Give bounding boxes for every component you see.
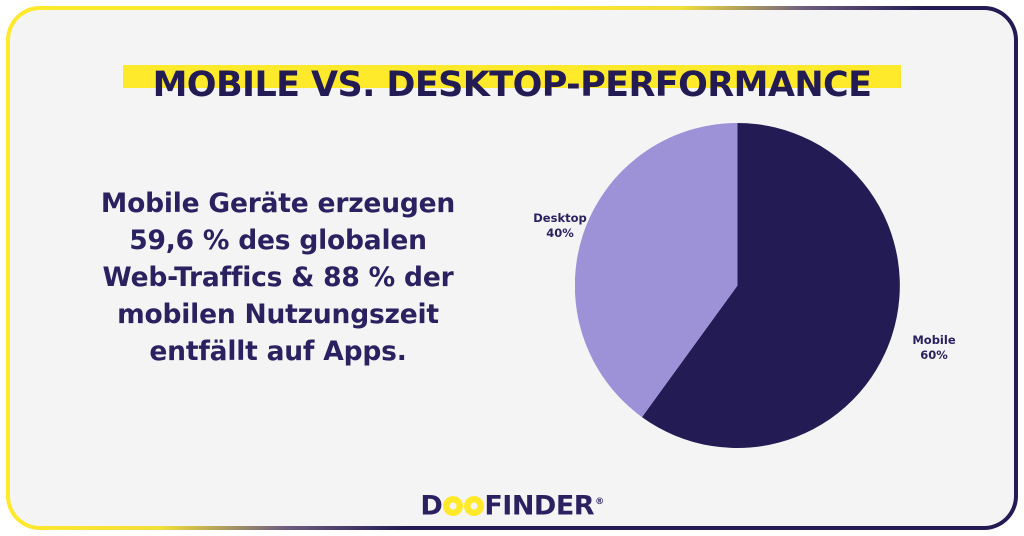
registered-trademark-mark: ® — [595, 497, 604, 507]
statement-line-2: 59,6 % des globalen — [58, 222, 498, 259]
pie-chart-svg — [575, 123, 900, 448]
brand-logo-wordmark: DFINDER® — [420, 488, 603, 521]
pie-label-mobile: Mobile 60% — [903, 333, 965, 363]
pie-label-mobile-name: Mobile — [903, 333, 965, 348]
page-title: MOBILE VS. DESKTOP-PERFORMANCE — [153, 63, 872, 107]
statement-line-5: entfällt auf Apps. — [58, 333, 498, 370]
logo-o-second-icon — [464, 496, 484, 516]
statement-line-4: mobilen Nutzungszeit — [58, 296, 498, 333]
logo-o-first-icon — [443, 496, 463, 516]
infographic-card: MOBILE VS. DESKTOP-PERFORMANCE Mobile Ge… — [6, 6, 1018, 530]
statement-line-3: Web-Traffics & 88 % der — [58, 259, 498, 296]
brand-logo: DFINDER® — [10, 488, 1014, 518]
title-section: MOBILE VS. DESKTOP-PERFORMANCE — [10, 40, 1014, 92]
pie-label-desktop-name: Desktop — [522, 211, 598, 226]
pie-label-desktop: Desktop 40% — [522, 211, 598, 241]
statement-text: Mobile Geräte erzeugen 59,6 % des global… — [58, 185, 498, 370]
pie-label-mobile-value: 60% — [903, 348, 965, 363]
pie-chart — [575, 123, 900, 448]
logo-prefix: D — [420, 491, 442, 522]
statement-line-1: Mobile Geräte erzeugen — [58, 185, 498, 222]
logo-suffix: FINDER — [484, 491, 594, 522]
pie-label-desktop-value: 40% — [522, 226, 598, 241]
